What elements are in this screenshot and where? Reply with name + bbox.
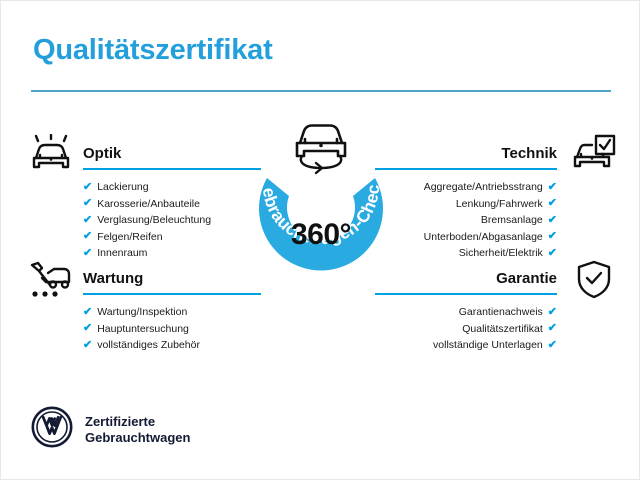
list-item: ✔Karosserie/Anbauteile	[83, 196, 261, 213]
section-wartung-list: ✔Wartung/Inspektion ✔Hauptuntersuchung ✔…	[83, 304, 261, 354]
list-item-label: Lackierung	[97, 179, 148, 196]
list-item: ✔Wartung/Inspektion	[83, 304, 261, 321]
check-icon: ✔	[548, 323, 557, 334]
badge-center-label: 360°	[237, 218, 405, 252]
title-divider	[31, 90, 611, 92]
gebrauchtwagen-check-badge: Gebrauchtwagen-Check 360°	[237, 118, 405, 303]
section-optik-divider	[83, 168, 261, 170]
list-item-label: vollständige Unterlagen	[433, 337, 543, 354]
list-item: ✔Felgen/Reifen	[83, 229, 261, 246]
list-item-label: Wartung/Inspektion	[97, 304, 187, 321]
list-item: ✔Verglasung/Beleuchtung	[83, 212, 261, 229]
check-icon: ✔	[83, 307, 92, 318]
check-icon: ✔	[548, 198, 557, 209]
check-icon: ✔	[548, 215, 557, 226]
list-item-label: vollständiges Zubehör	[97, 337, 200, 354]
section-wartung-divider	[83, 293, 261, 295]
section-optik-header: Optik	[83, 144, 261, 170]
list-item-label: Qualitätszertifikat	[462, 321, 543, 338]
footer-brand-text: ZertifizierteGebrauchtwagen	[85, 414, 190, 446]
list-item-label: Sicherheit/Elektrik	[459, 245, 543, 262]
footer-brand: ZertifizierteGebrauchtwagen	[31, 406, 190, 453]
check-icon: ✔	[548, 182, 557, 193]
list-item-label: Innenraum	[97, 245, 147, 262]
list-item: ✔vollständiges Zubehör	[83, 337, 261, 354]
check-icon: ✔	[83, 231, 92, 242]
list-item-label: Lenkung/Fahrwerk	[456, 196, 543, 213]
check-icon: ✔	[548, 307, 557, 318]
check-icon: ✔	[83, 340, 92, 351]
list-item-label: Unterboden/Abgasanlage	[424, 229, 543, 246]
check-icon: ✔	[548, 340, 557, 351]
car-checkbox-icon	[569, 134, 617, 179]
list-item: ✔Lackierung	[83, 179, 261, 196]
list-item: vollständige Unterlagen✔	[375, 337, 557, 354]
check-icon: ✔	[83, 248, 92, 259]
list-item: ✔Innenraum	[83, 245, 261, 262]
list-item: Qualitätszertifikat✔	[375, 321, 557, 338]
section-optik: Optik ✔Lackierung ✔Karosserie/Anbauteile…	[83, 144, 261, 262]
list-item-label: Verglasung/Beleuchtung	[97, 212, 211, 229]
check-icon: ✔	[83, 323, 92, 334]
section-optik-list: ✔Lackierung ✔Karosserie/Anbauteile ✔Verg…	[83, 179, 261, 262]
list-item: ✔Hauptuntersuchung	[83, 321, 261, 338]
footer-line-2: Gebrauchtwagen	[85, 430, 190, 445]
section-optik-title: Optik	[83, 144, 261, 164]
wrench-car-icon	[26, 261, 74, 306]
list-item-label: Felgen/Reifen	[97, 229, 162, 246]
section-garantie-list: Garantienachweis✔ Qualitätszertifikat✔ v…	[375, 304, 557, 354]
quality-certificate-page: Qualitätszertifikat	[0, 0, 640, 480]
list-item-label: Garantienachweis	[459, 304, 543, 321]
footer-line-1: Zertifizierte	[85, 414, 155, 429]
car-shine-icon	[28, 134, 74, 179]
list-item: Garantienachweis✔	[375, 304, 557, 321]
list-item-label: Aggregate/Antriebsstrang	[424, 179, 543, 196]
section-wartung-header: Wartung	[83, 269, 261, 295]
list-item-label: Bremsanlage	[481, 212, 543, 229]
list-item-label: Karosserie/Anbauteile	[97, 196, 200, 213]
check-icon: ✔	[548, 231, 557, 242]
page-title: Qualitätszertifikat	[33, 34, 273, 67]
check-icon: ✔	[83, 198, 92, 209]
check-icon: ✔	[83, 215, 92, 226]
shield-check-icon	[576, 260, 612, 305]
section-wartung: Wartung ✔Wartung/Inspektion ✔Hauptunters…	[83, 269, 261, 354]
check-icon: ✔	[83, 182, 92, 193]
check-icon: ✔	[548, 248, 557, 259]
vw-logo-icon	[31, 406, 73, 453]
list-item-label: Hauptuntersuchung	[97, 321, 189, 338]
section-wartung-title: Wartung	[83, 269, 261, 289]
